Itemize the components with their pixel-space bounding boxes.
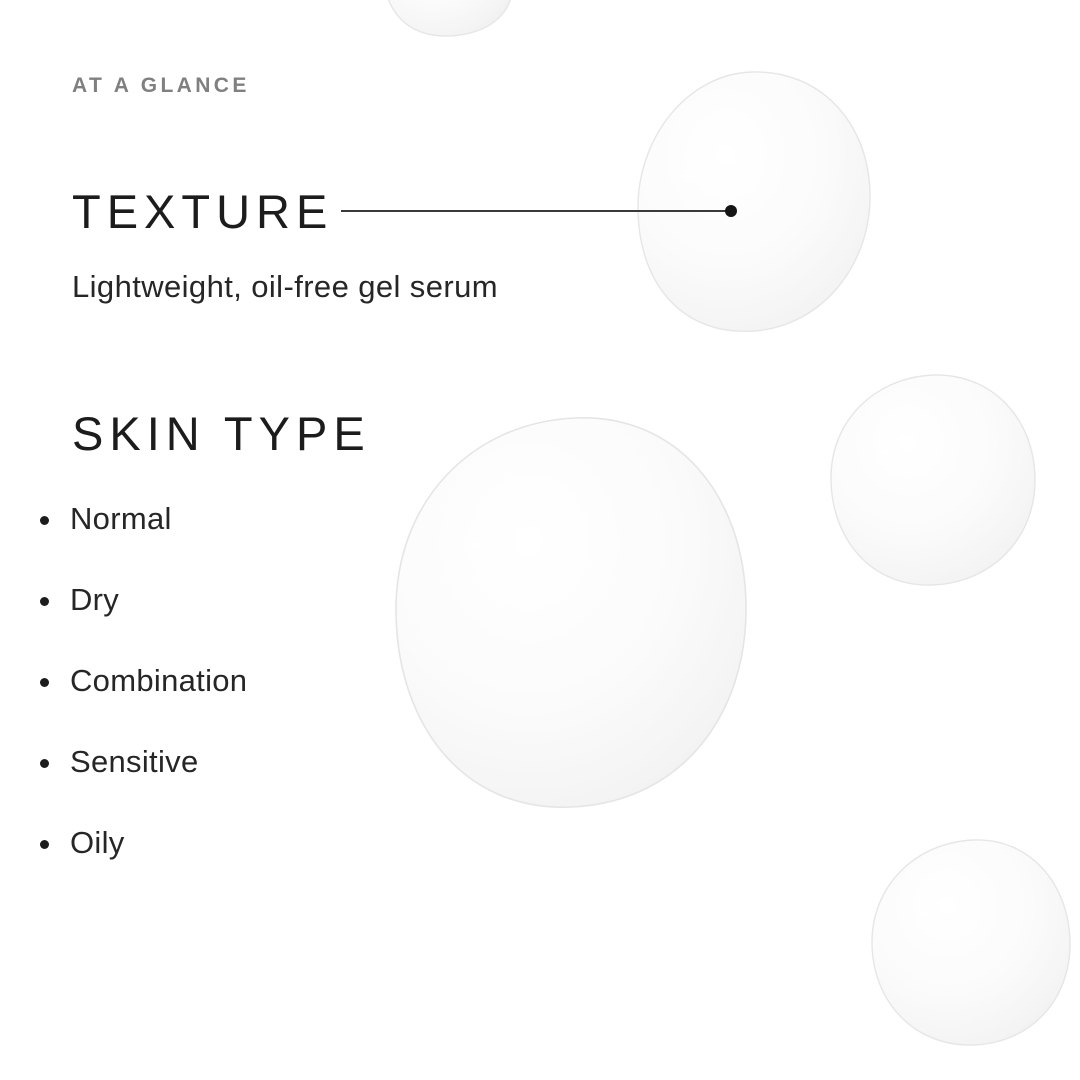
bullet-icon [40,678,49,687]
list-item: Oily [38,821,247,902]
callout-dot-icon [725,205,737,217]
droplet-texture-callout [638,72,870,331]
bullet-icon [40,759,49,768]
callout-leader-line [341,210,729,212]
list-item-label: Normal [70,501,172,536]
at-a-glance-page: AT A GLANCE TEXTURE Lightweight, oil-fre… [0,0,1080,1080]
droplet-bottom-right [872,840,1070,1045]
bullet-icon [40,840,49,849]
droplet-top-edge [384,0,513,36]
bullet-icon [40,516,49,525]
skin-type-heading: SKIN TYPE [72,406,371,461]
list-item: Sensitive [38,740,247,821]
list-item-label: Oily [70,825,125,860]
list-item: Normal [38,497,247,578]
droplet-right-upper [831,375,1035,585]
texture-description: Lightweight, oil-free gel serum [72,269,498,305]
texture-heading: TEXTURE [72,184,333,239]
bullet-icon [40,597,49,606]
droplet-center-large [396,418,746,807]
skin-type-list: Normal Dry Combination Sensitive Oily [38,497,247,902]
list-item-label: Sensitive [70,744,199,779]
list-item-label: Dry [70,582,119,617]
eyebrow-label: AT A GLANCE [72,74,250,98]
list-item: Dry [38,578,247,659]
list-item-label: Combination [70,663,247,698]
list-item: Combination [38,659,247,740]
